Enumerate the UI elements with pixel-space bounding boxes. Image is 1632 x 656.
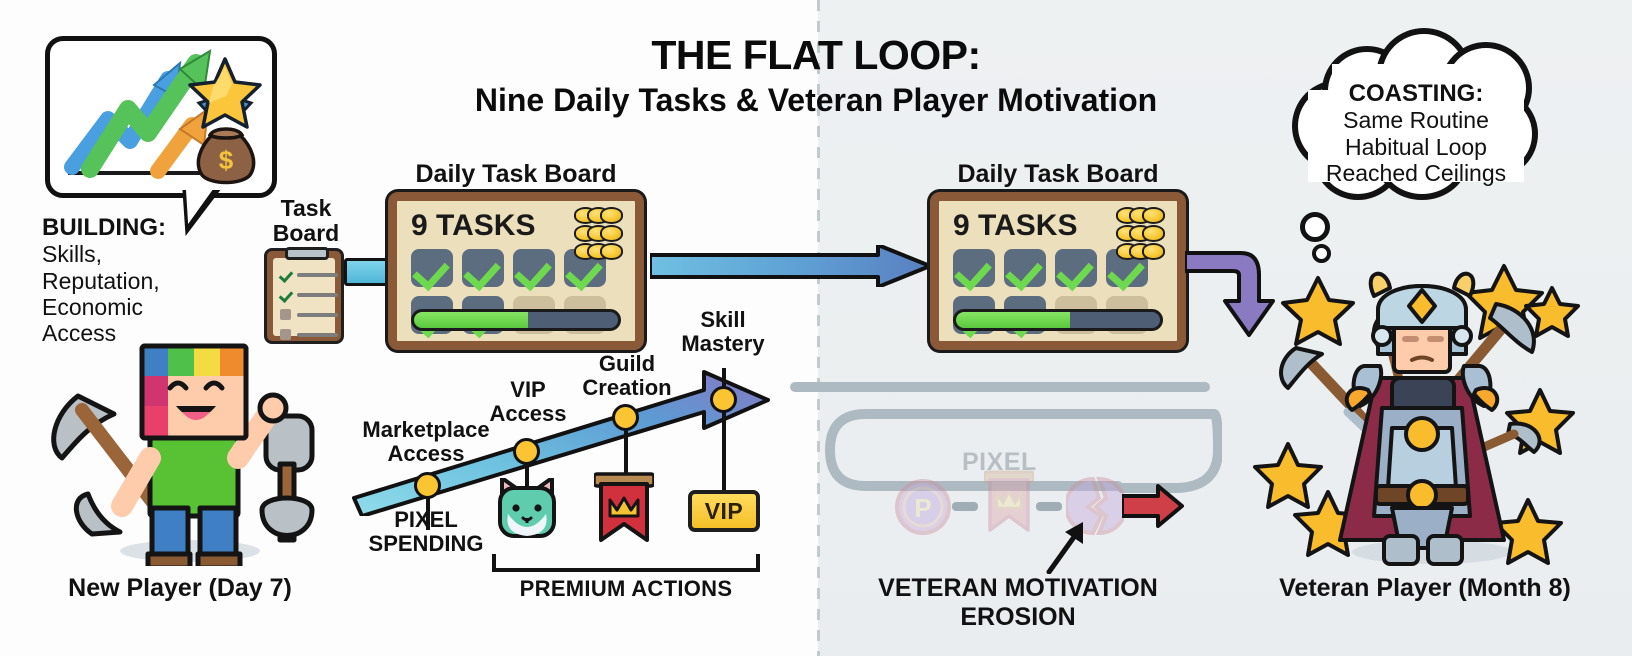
vip-ticket-icon[interactable]: VIP [688,490,760,532]
clipboard-box-2 [280,329,291,340]
coasting-caption: COASTING: Same Routine Habitual Loop Rea… [1300,80,1532,186]
building-heading: BUILDING: [42,214,166,241]
milestone-dot-4[interactable] [710,386,737,413]
clipboard-icon [264,248,344,344]
building-line-3: Economic [42,294,143,320]
clipboard-check-1 [280,269,291,280]
premium-actions-bracket [492,554,760,572]
money-bag-icon: $ [190,119,262,187]
board-2-checkbox-2[interactable] [1004,249,1046,287]
clipboard-paper [273,258,335,336]
red-arrow-icon [1122,484,1184,528]
erosion-connector-1 [952,502,978,511]
premium-actions-label: PREMIUM ACTIONS [480,576,772,602]
task-board-tag-label: Task Board [258,196,354,246]
pixel-cat-icon [494,478,560,542]
new-player-label: New Player (Day 7) [20,574,340,603]
clipboard-connector [344,258,390,286]
erosion-caption: VETERAN MOTIVATION EROSION [838,574,1198,632]
clipboard-clip [285,247,329,260]
board-1-progress-fill [414,312,528,328]
board-2-title: Daily Task Board [930,160,1186,189]
building-line-1: Skills, [42,241,102,267]
board-1-checkbox-2[interactable] [462,249,504,287]
new-player-avatar [30,318,330,566]
daily-task-board-1[interactable]: 9 TASKS [388,192,644,350]
crown-banner-icon [594,472,654,544]
svg-text:P: P [914,493,931,523]
daily-task-board-2[interactable]: 9 TASKS [930,192,1186,350]
clipboard-check-2 [280,289,291,300]
board-2-checkbox-1[interactable] [953,249,995,287]
thought-bubble-small-1 [1300,212,1330,242]
veteran-player-label: Veteran Player (Month 8) [1240,574,1610,603]
task-board-tag-line-2: Board [273,220,339,246]
pixel-spending-label: PIXEL SPENDING [366,508,486,556]
board-2-checkbox-3[interactable] [1055,249,1097,287]
task-board-tag-line-1: Task [281,195,332,221]
board-2-coin-stacks [1111,207,1169,261]
pixel-coin-icon: P [894,478,952,536]
coasting-heading: COASTING: [1349,80,1484,107]
board-1-checkbox-3[interactable] [513,249,555,287]
pointer-arrow-icon [1043,520,1089,574]
veteran-player-avatar [1252,248,1592,568]
flow-arrow-blue [650,245,932,287]
erosion-rail-top [790,382,1210,392]
board-1-progress-bar [411,309,621,331]
infographic-canvas: THE FLAT LOOP: Nine Daily Tasks & Vetera… [0,0,1632,656]
milestone-dot-2[interactable] [513,438,540,465]
coasting-line-3: Reached Ceilings [1326,160,1506,186]
board-1-tasks-count: 9 TASKS [411,209,535,243]
svg-text:$: $ [219,145,234,175]
milestone-dot-1[interactable] [414,472,441,499]
board-2-tasks-count: 9 TASKS [953,209,1077,243]
clipboard-box-1 [280,309,291,320]
building-speech-bubble: $ [45,36,277,198]
board-2-progress-fill [956,312,1070,328]
milestone-label-4: Skill Mastery [668,308,778,356]
erosion-connector-2 [1036,502,1062,511]
board-2-progress-bar [953,309,1163,331]
building-line-2: Reputation, [42,268,160,294]
milestone-label-3: Guild Creation [562,352,692,400]
erosion-banner-icon [984,470,1034,534]
board-1-coin-stacks [569,207,627,261]
coasting-line-1: Same Routine [1343,107,1489,133]
milestone-dot-3[interactable] [612,404,639,431]
board-1-checkbox-1[interactable] [411,249,453,287]
coasting-line-2: Habitual Loop [1345,134,1487,160]
board-1-title: Daily Task Board [388,160,644,189]
